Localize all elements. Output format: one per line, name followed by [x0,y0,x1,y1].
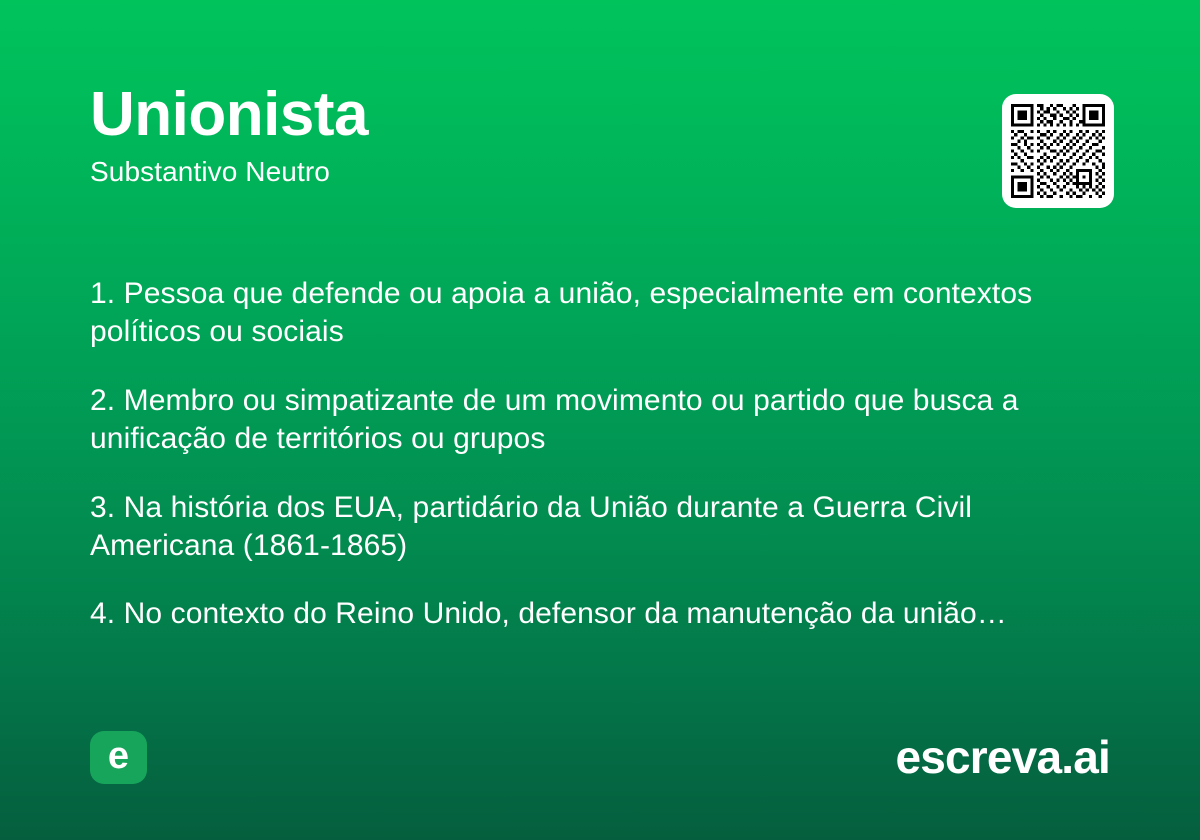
definition-item: 2. Membro ou simpatizante de um moviment… [90,382,1075,459]
card-footer: e escreva.ai [90,729,1110,785]
word-class-label: Substantivo Neutro [90,155,1110,189]
definition-item: 1. Pessoa que defende ou apoia a união, … [90,275,1075,352]
escreva-logo-icon: e [90,731,147,784]
definition-item: 3. Na história dos EUA, partidário da Un… [90,489,1075,566]
brand-wordmark: escreva.ai [895,734,1110,780]
logo-letter: e [108,737,129,775]
definition-item: 4. No contexto do Reino Unido, defensor … [90,595,1075,633]
qr-code-icon [1011,104,1105,198]
card-header: Unionista Substantivo Neutro [90,82,1110,189]
definition-list: 1. Pessoa que defende ou apoia a união, … [90,245,1075,634]
page-title: Unionista [90,82,1110,147]
dictionary-card: Unionista Substantivo Neutro [0,0,1200,840]
qr-code-panel[interactable] [1002,94,1114,208]
